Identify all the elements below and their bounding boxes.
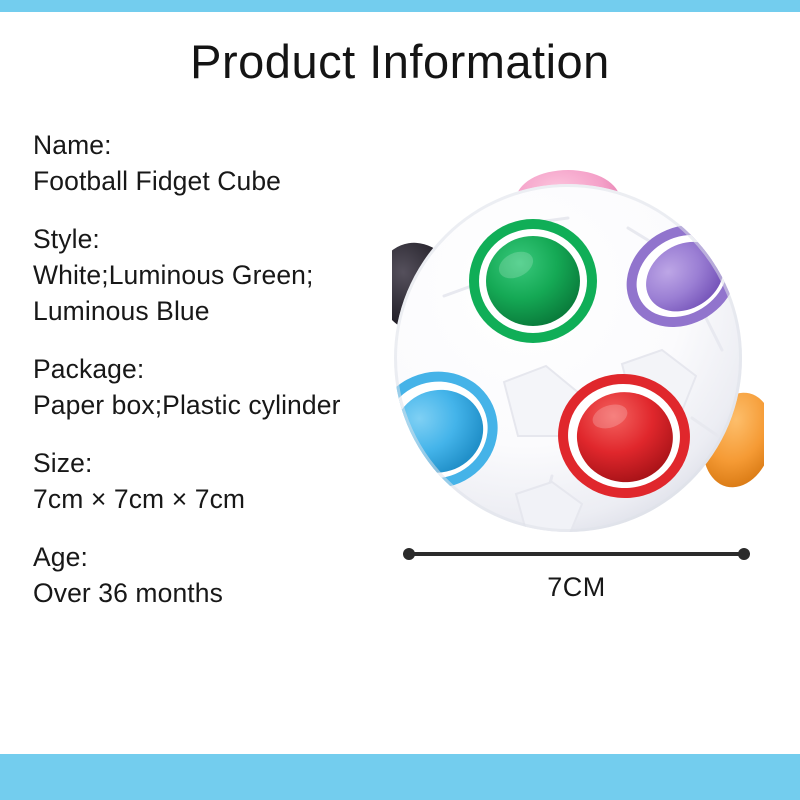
spec-block-name: Name: Football Fidget Cube — [33, 127, 413, 199]
spec-label-size: Size: — [33, 445, 413, 481]
green-ball-hole — [469, 219, 597, 343]
dimension-line — [403, 546, 750, 562]
dimension-label: 7CM — [403, 570, 750, 604]
spec-block-age: Age: Over 36 months — [33, 539, 413, 611]
fidget-ball-illustration — [392, 168, 764, 548]
page-title: Product Information — [0, 36, 800, 88]
spec-label-package: Package: — [33, 351, 413, 387]
product-image-figure — [392, 168, 764, 548]
spec-block-size: Size: 7cm × 7cm × 7cm — [33, 445, 413, 517]
spec-value-package-line-1: Paper box;Plastic cylinder — [33, 387, 413, 423]
spec-value-age-line-1: Over 36 months — [33, 575, 413, 611]
spec-value-style-line-1: White;Luminous Green; — [33, 257, 413, 293]
spec-block-style: Style: White;Luminous Green; Luminous Bl… — [33, 221, 413, 329]
spec-value-size-line-1: 7cm × 7cm × 7cm — [33, 481, 413, 517]
spec-block-package: Package: Paper box;Plastic cylinder — [33, 351, 413, 423]
product-spec-list: Name: Football Fidget Cube Style: White;… — [33, 127, 413, 611]
dimension-endpoint-right-dot — [738, 548, 750, 560]
spec-value-name-line-1: Football Fidget Cube — [33, 163, 413, 199]
spec-label-style: Style: — [33, 221, 413, 257]
dimension-line-bar — [407, 552, 746, 556]
bottom-accent-band — [0, 754, 800, 800]
spec-label-age: Age: — [33, 539, 413, 575]
spec-label-name: Name: — [33, 127, 413, 163]
spec-value-style-line-2: Luminous Blue — [33, 293, 413, 329]
top-accent-band — [0, 0, 800, 12]
